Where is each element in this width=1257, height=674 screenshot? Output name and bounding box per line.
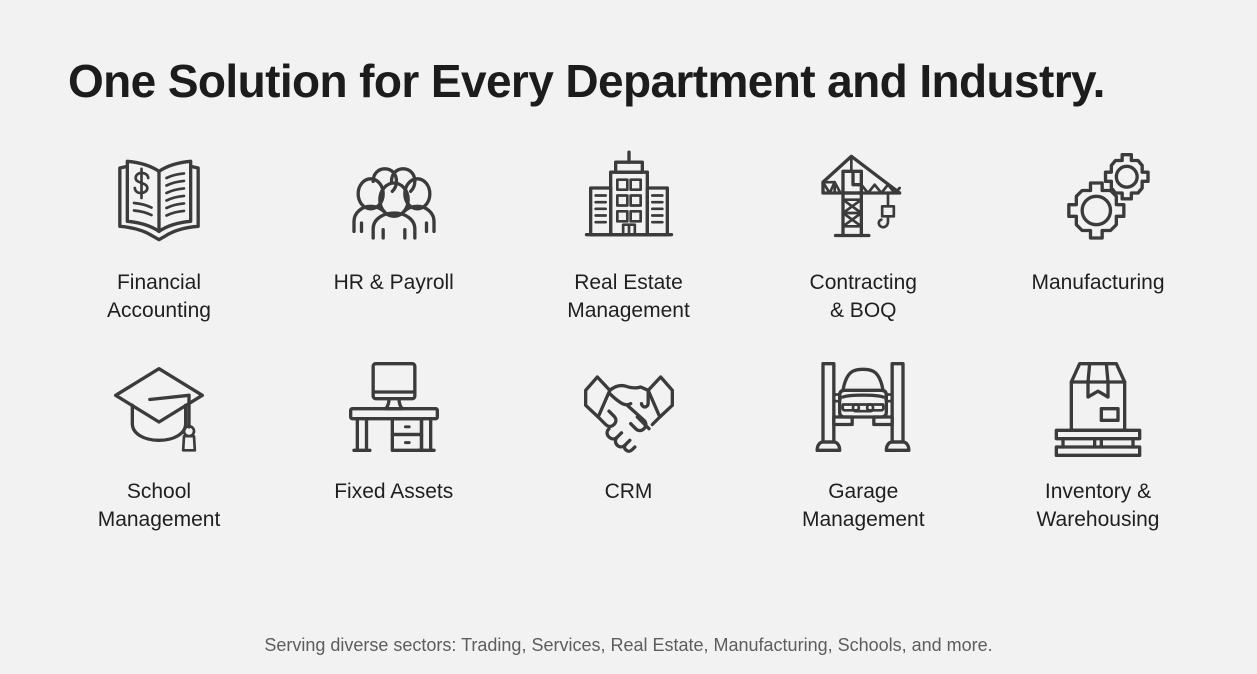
department-row: Financial Accounting [56,143,1201,325]
tower-crane-icon [803,143,923,253]
slide-root: One Solution for Every Department and In… [0,0,1257,674]
footer-tagline: Serving diverse sectors: Trading, Servic… [0,635,1257,656]
department-row: School Management [56,352,1201,534]
department-card-real-estate-management[interactable]: Real Estate Management [526,143,732,325]
department-card-manufacturing[interactable]: Manufacturing [995,143,1201,297]
department-card-fixed-assets[interactable]: Fixed Assets [291,352,497,506]
handshake-icon [569,352,689,462]
department-card-school-management[interactable]: School Management [56,352,262,534]
department-label: Garage Management [802,478,925,534]
department-card-hr-payroll[interactable]: HR & Payroll [291,143,497,297]
people-group-icon [334,143,454,253]
department-card-crm[interactable]: CRM [526,352,732,506]
two-gears-icon [1038,143,1158,253]
department-grid: Financial Accounting [0,143,1257,535]
department-card-garage-management[interactable]: Garage Management [760,352,966,534]
department-card-contracting-boq[interactable]: Contracting & BOQ [760,143,966,325]
office-building-icon [569,143,689,253]
graduation-cap-icon [99,352,219,462]
department-label: Real Estate Management [567,269,690,325]
desk-monitor-icon [334,352,454,462]
department-label: Fixed Assets [334,478,453,506]
car-lift-icon [803,352,923,462]
box-pallet-icon [1038,352,1158,462]
department-label: Manufacturing [1031,269,1164,297]
department-label: Contracting & BOQ [810,269,917,325]
open-ledger-book-dollar-icon [99,143,219,253]
department-label: HR & Payroll [334,269,454,297]
department-label: School Management [98,478,221,534]
department-label: Inventory & Warehousing [1037,478,1160,534]
department-card-financial-accounting[interactable]: Financial Accounting [56,143,262,325]
department-label: CRM [605,478,653,506]
department-label: Financial Accounting [107,269,211,325]
page-title: One Solution for Every Department and In… [68,56,1257,107]
department-card-inventory-warehousing[interactable]: Inventory & Warehousing [995,352,1201,534]
